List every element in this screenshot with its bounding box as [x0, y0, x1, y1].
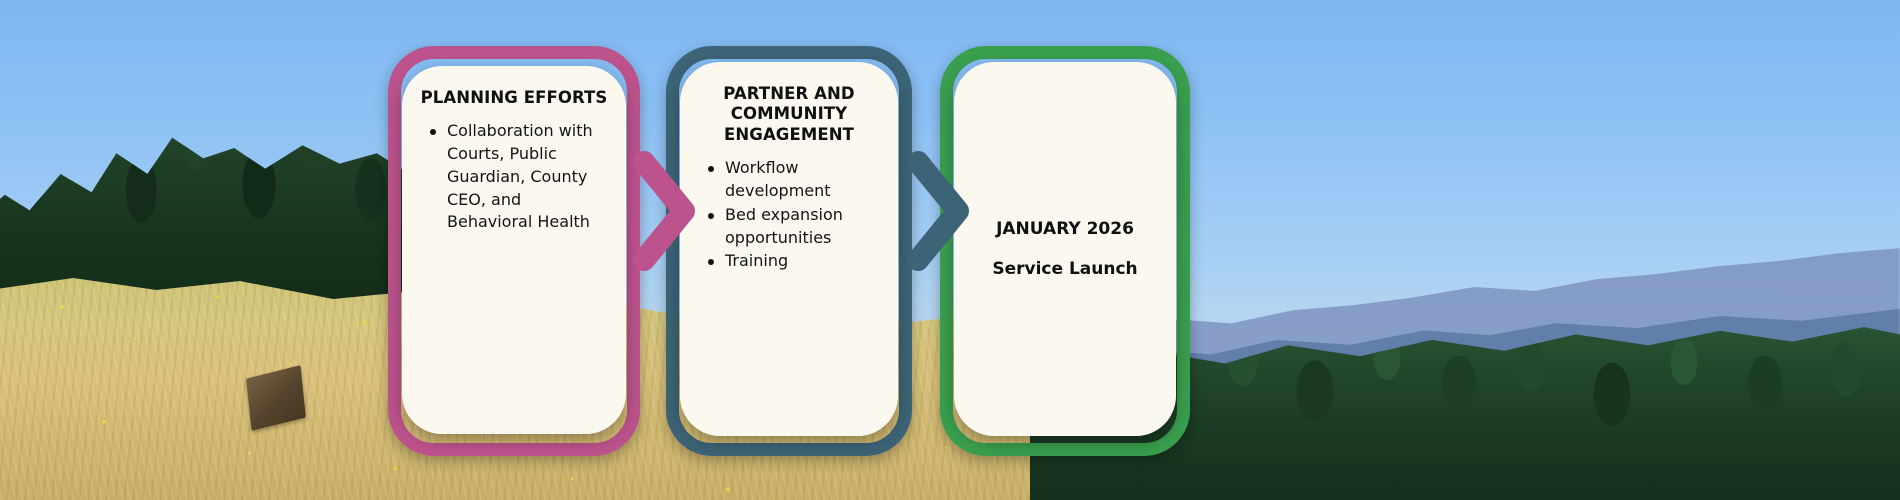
step-2-title: PARTNER AND COMMUNITY ENGAGEMENT	[696, 84, 882, 145]
step-card-partner-and-community-engagement[interactable]: PARTNER AND COMMUNITY ENGAGEMENT Workflo…	[680, 62, 898, 436]
slide-canvas: PLANNING EFFORTS Collaboration with Cour…	[0, 0, 1900, 500]
list-item: Training	[706, 250, 880, 273]
chevron-right-icon	[628, 146, 698, 276]
step-card-january-2026-service-launch[interactable]: JANUARY 2026 Service Launch	[954, 62, 1176, 436]
step-1-title: PLANNING EFFORTS	[418, 88, 610, 108]
list-item: Bed expansion opportunities	[706, 204, 880, 249]
step-3-line-1: JANUARY 2026	[970, 218, 1160, 240]
step-card-planning-efforts[interactable]: PLANNING EFFORTS Collaboration with Cour…	[402, 66, 626, 434]
step-2-bullet-list: Workflow development Bed expansion oppor…	[696, 157, 882, 274]
list-item: Workflow development	[706, 157, 880, 202]
process-flow-diagram: PLANNING EFFORTS Collaboration with Cour…	[388, 46, 1200, 466]
step-1-bullet-list: Collaboration with Courts, Public Guardi…	[418, 120, 610, 235]
chevron-right-icon	[902, 146, 972, 276]
step-3-line-2: Service Launch	[970, 258, 1160, 280]
list-item: Collaboration with Courts, Public Guardi…	[428, 120, 608, 234]
